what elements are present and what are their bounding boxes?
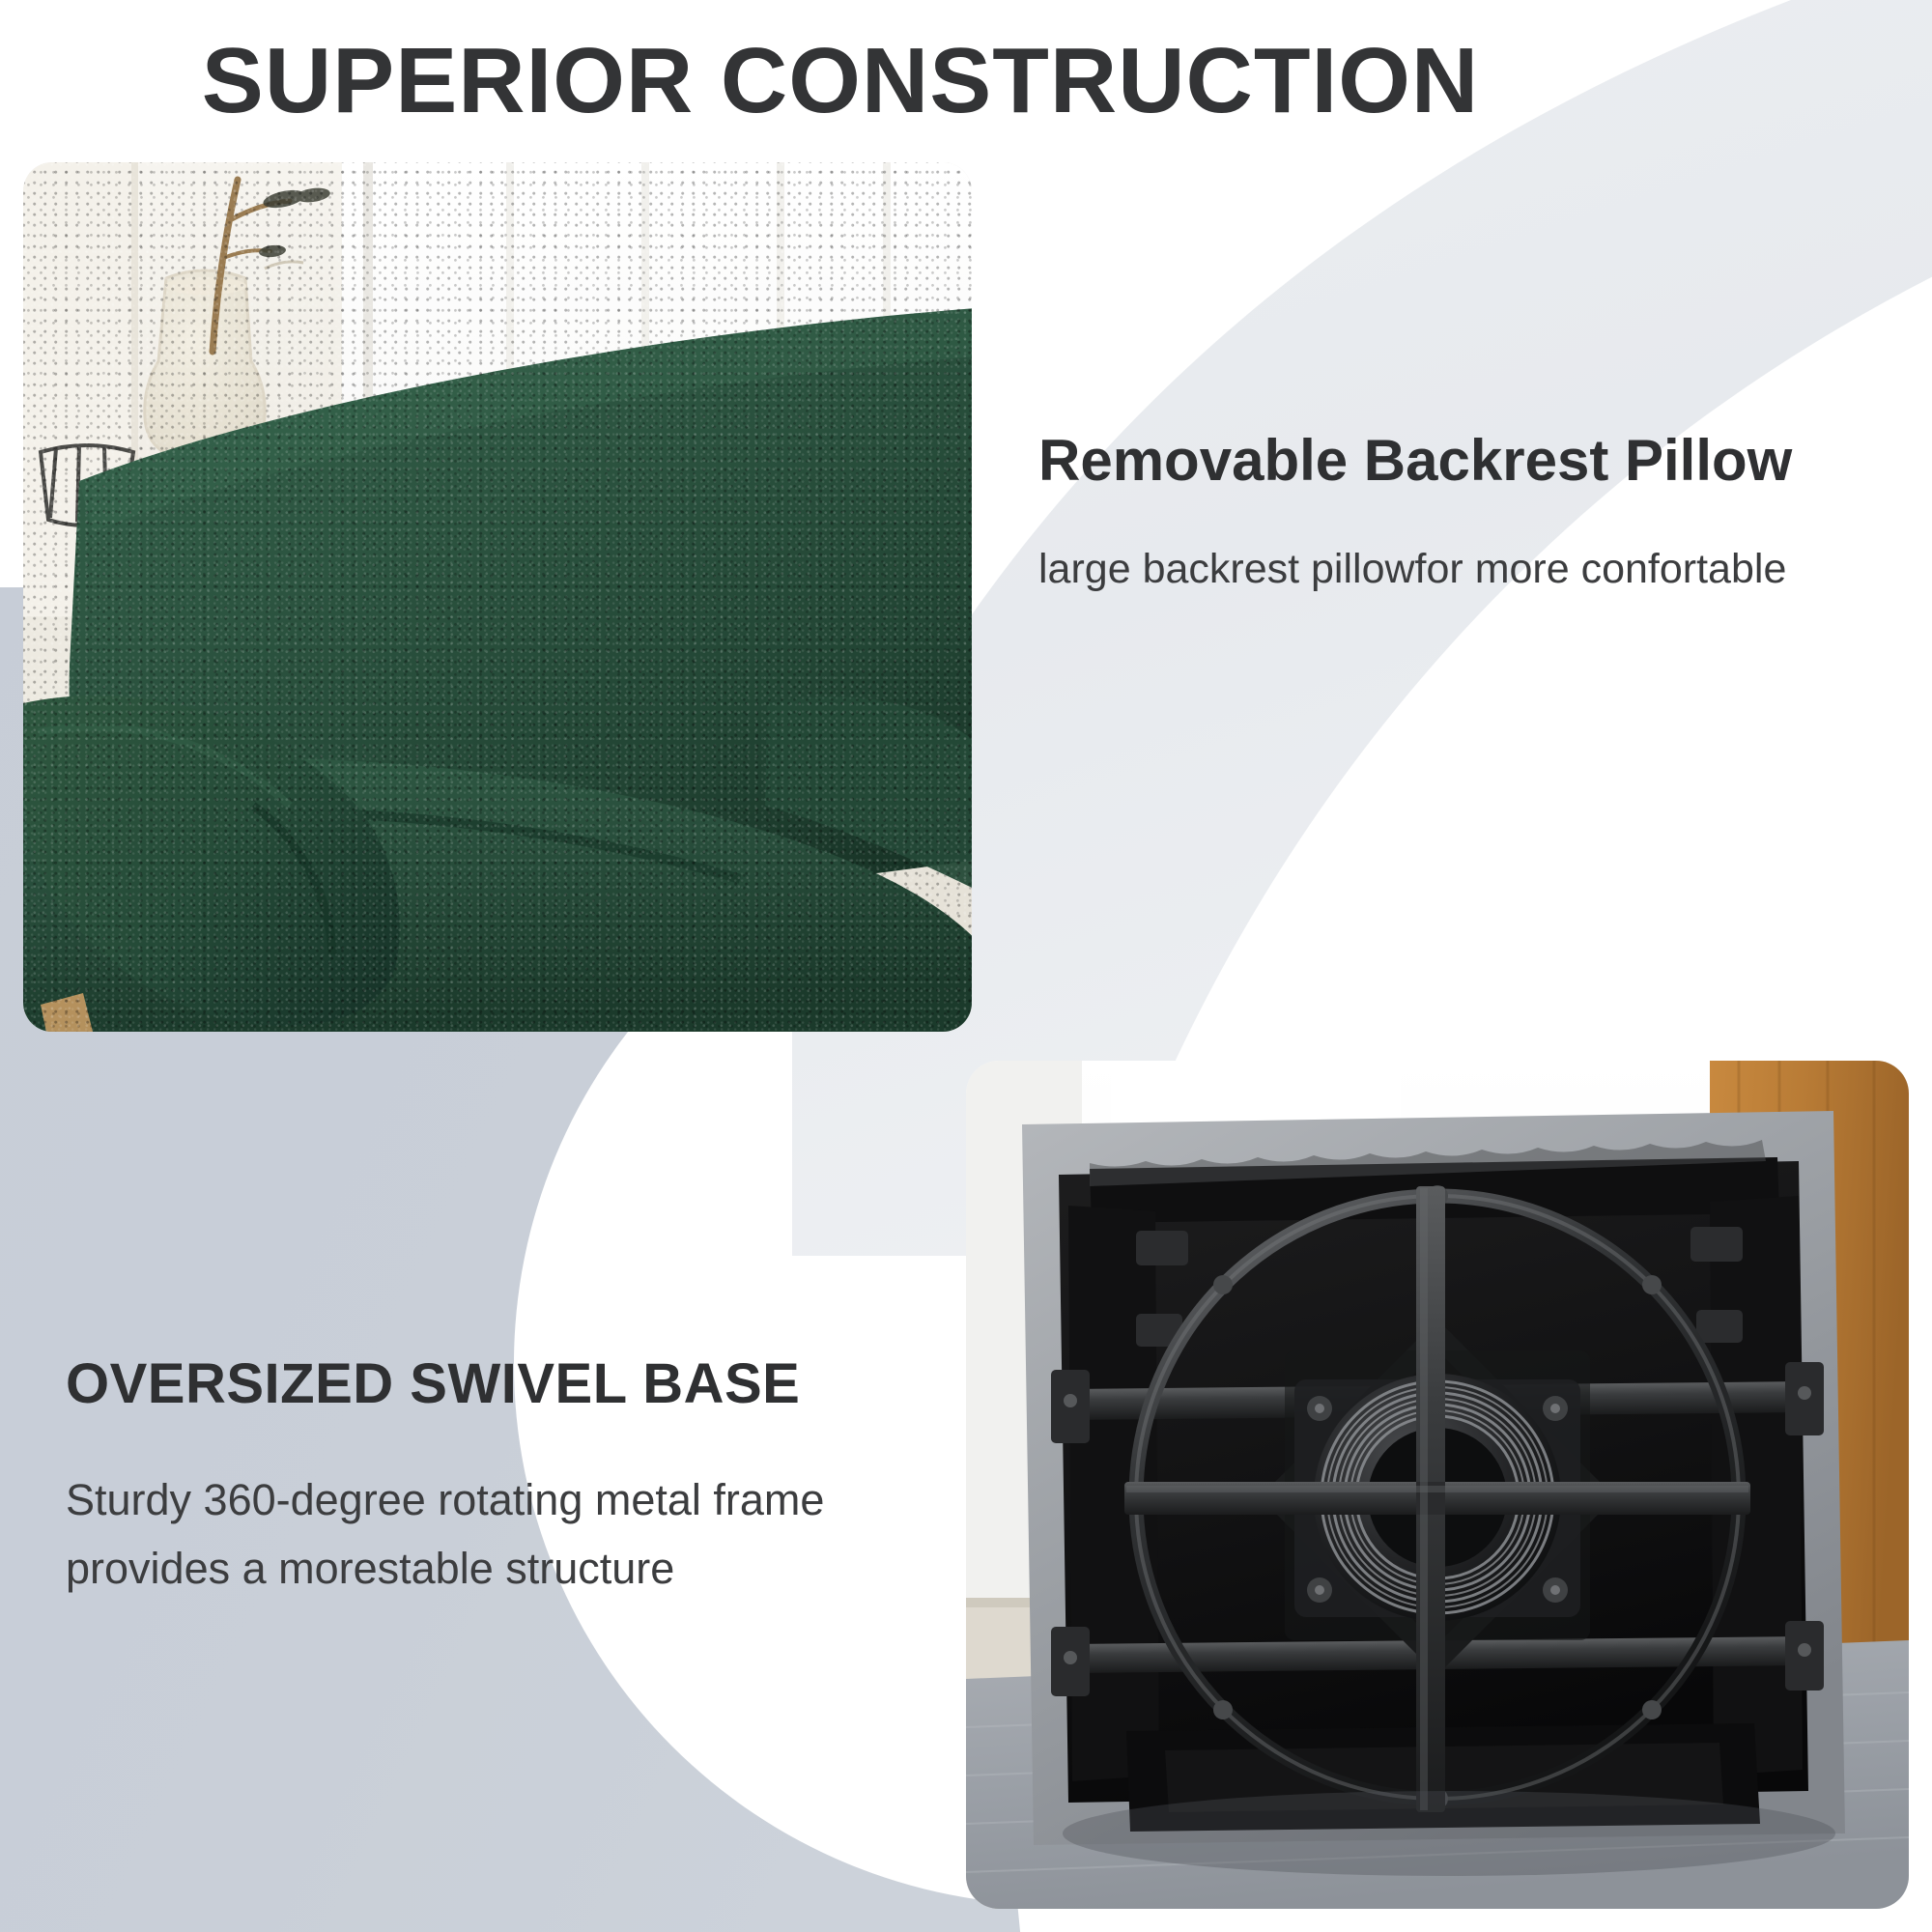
feature-text-removable-backrest-pillow: Removable Backrest Pillow large backrest… [1038, 425, 1802, 602]
page-title: SUPERIOR CONSTRUCTION [0, 33, 1681, 130]
boucle-texture-overlay [23, 162, 972, 1032]
feature-image-removable-backrest-pillow [23, 162, 972, 1032]
feature-body-swivel: Sturdy 360-degree rotating metal frame p… [66, 1465, 838, 1603]
feature-heading-swivel: OVERSIZED SWIVEL BASE [66, 1350, 838, 1419]
feature-text-oversized-swivel-base: OVERSIZED SWIVEL BASE Sturdy 360-degree … [66, 1350, 838, 1603]
feature-image-oversized-swivel-base [966, 1061, 1909, 1909]
feature-heading-pillow: Removable Backrest Pillow [1038, 425, 1802, 496]
infographic-canvas: SUPERIOR CONSTRUCTION [0, 0, 1932, 1932]
feature-body-pillow: large backrest pillowfor more confortabl… [1038, 538, 1802, 601]
